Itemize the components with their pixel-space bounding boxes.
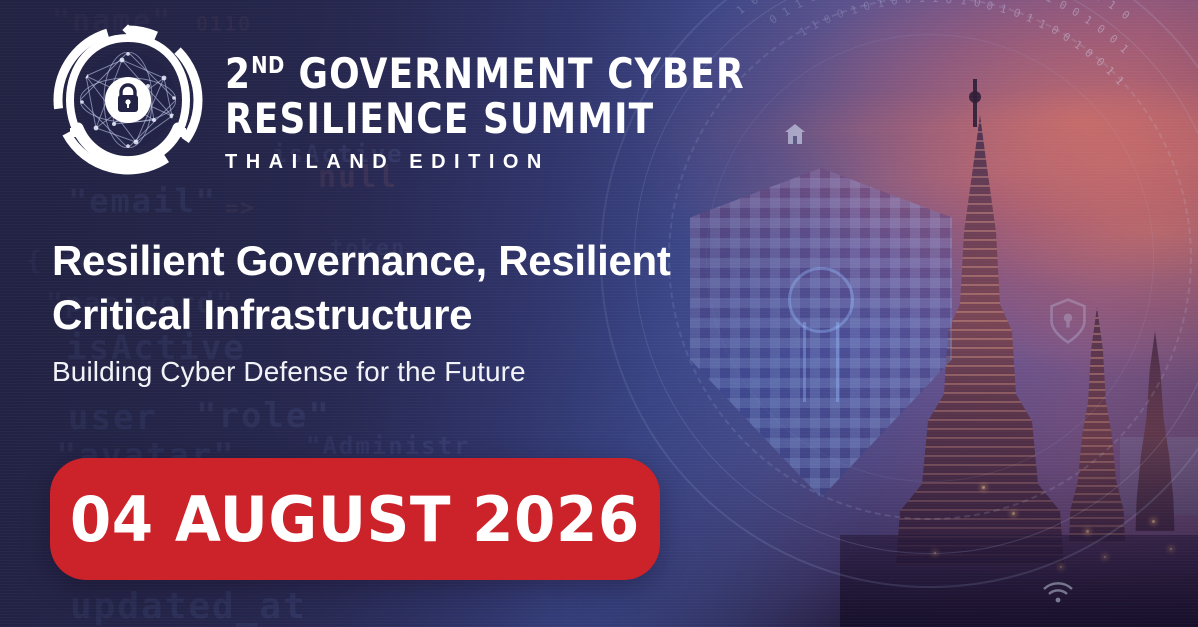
title-lockup: 2ND GOVERNMENT CYBER RESILIENCE SUMMIT T…	[225, 44, 845, 174]
title-line-1-text: GOVERNMENT CYBER	[298, 49, 744, 98]
event-date-badge: 04 AUGUST 2026	[50, 458, 660, 580]
title-line-1: 2ND GOVERNMENT CYBER	[225, 44, 814, 96]
cyber-shield-globe-lock-logo	[52, 24, 204, 176]
summit-logo	[52, 24, 204, 176]
ordinal-number: 2ND	[225, 49, 285, 98]
title-line-2: RESILIENCE SUMMIT	[225, 96, 814, 141]
edition-label: THAILAND EDITION	[225, 151, 845, 174]
event-date-label: 04 AUGUST 2026	[70, 483, 640, 556]
ordinal-suffix: ND	[251, 53, 285, 79]
headline-line-2: Critical Infrastructure	[52, 288, 732, 342]
event-banner: 1001010011001010110010011001101001010011…	[0, 0, 1198, 627]
subheadline: Building Cyber Defense for the Future	[52, 356, 526, 388]
page-title: Resilient Governance, Resilient Critical…	[52, 234, 732, 342]
headline-line-1: Resilient Governance, Resilient	[52, 237, 671, 284]
banner-content: 2ND GOVERNMENT CYBER RESILIENCE SUMMIT T…	[0, 0, 1198, 627]
